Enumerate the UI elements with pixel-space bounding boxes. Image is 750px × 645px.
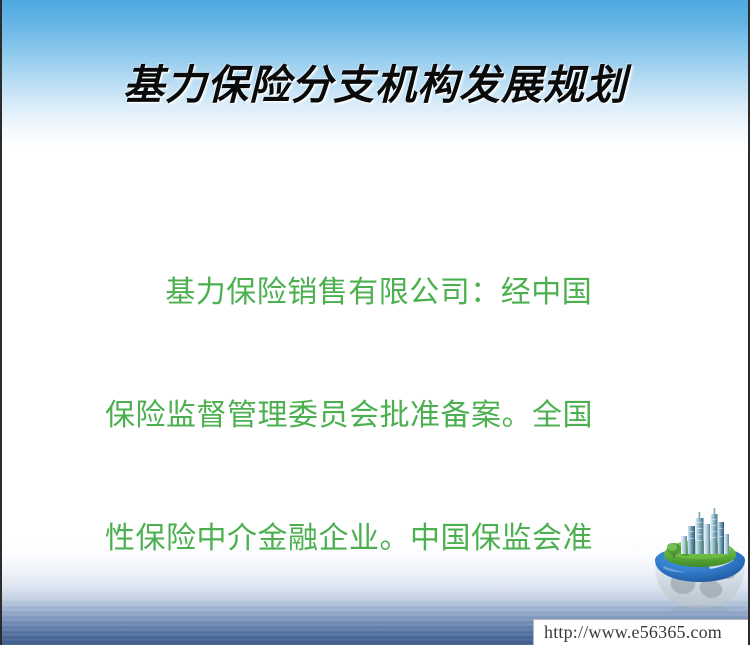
body-line: 性保险中介金融企业。中国保监会准 [105,518,665,559]
presentation-slide: 基力保险分支机构发展规划 基力保险销售有限公司：经中国 保险监督管理委员会批准备… [0,0,750,645]
watermark-url-text: http://www.e56365.com [544,622,722,643]
globe-city-logo-icon [650,508,750,612]
slide-title: 基力保险分支机构发展规划 [2,58,748,112]
body-line: 保险监督管理委员会批准备案。全国 [105,395,665,436]
slide-body-text: 基力保险销售有限公司：经中国 保险监督管理委员会批准备案。全国 性保险中介金融企… [105,190,665,645]
body-line: 基力保险销售有限公司：经中国 [105,272,665,313]
watermark-url-box: http://www.e56365.com [533,619,750,645]
